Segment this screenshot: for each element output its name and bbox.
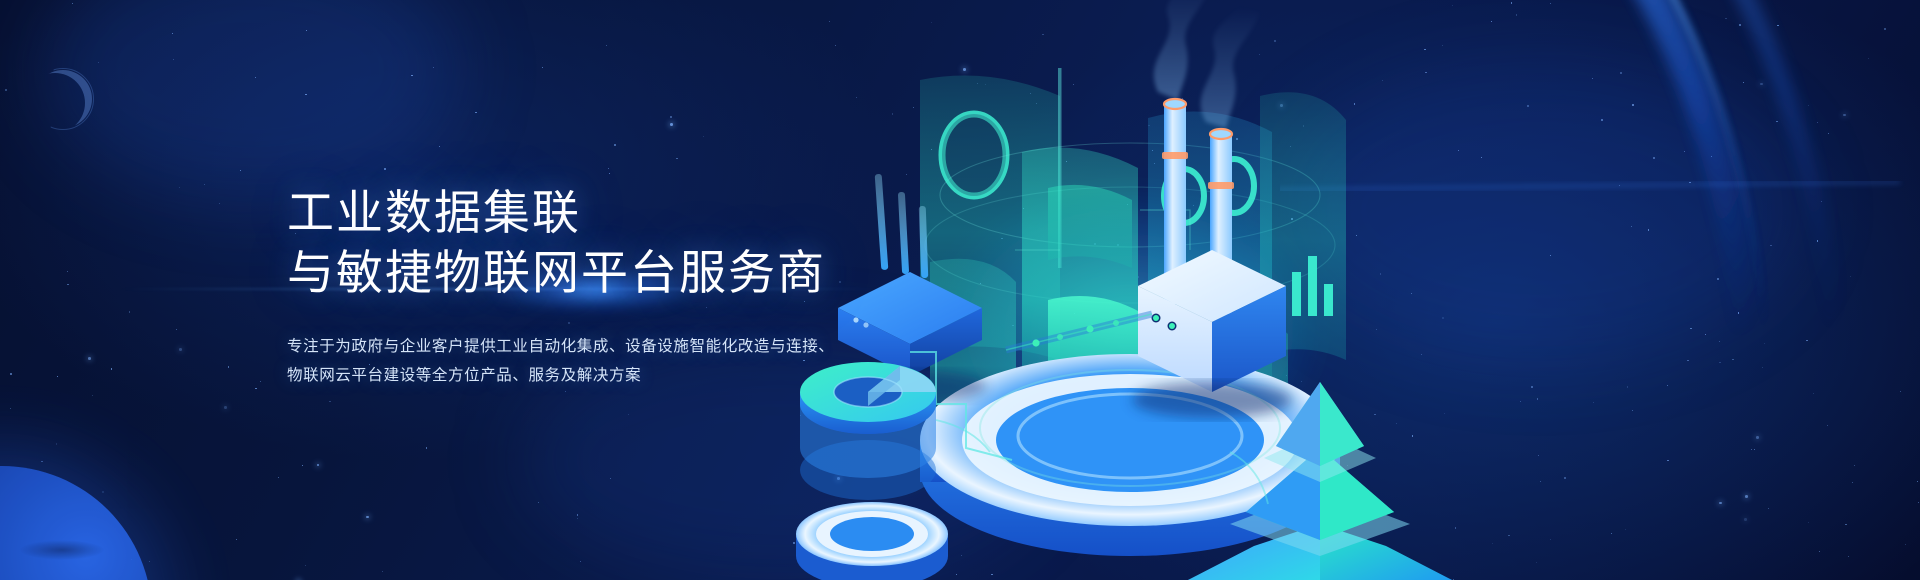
star (433, 67, 434, 68)
star (240, 170, 241, 171)
star (5, 89, 7, 91)
star (179, 348, 182, 351)
star (577, 514, 578, 515)
star (670, 123, 673, 126)
star (542, 67, 543, 68)
star (426, 447, 428, 449)
star (173, 59, 174, 60)
star (278, 477, 279, 478)
star (10, 373, 12, 375)
headline-line-1: 工业数据集联 (287, 183, 847, 242)
star (439, 146, 440, 147)
star (98, 62, 99, 63)
isometric-industrial-iot-scene (760, 0, 1920, 580)
star (102, 491, 104, 493)
star (306, 30, 307, 31)
star (411, 75, 412, 76)
hero-subtitle: 专注于为政府与企业客户提供工业自动化集成、设备设施智能化改造与连接、 物联网云平… (287, 333, 847, 390)
smoke-plume-1 (1154, 0, 1212, 100)
star (228, 366, 229, 367)
star (606, 45, 607, 46)
star (67, 284, 68, 285)
star (172, 33, 173, 34)
star (179, 187, 180, 188)
star (92, 395, 93, 396)
star (255, 388, 257, 390)
star (628, 414, 629, 415)
star (703, 136, 704, 137)
star (129, 311, 130, 312)
hero-copy-block: 工业数据集联 与敏捷物联网平台服务商 专注于为政府与企业客户提供工业自动化集成、… (287, 152, 847, 406)
star (670, 116, 672, 118)
headline-line-2: 与敏捷物联网平台服务商 (287, 243, 847, 302)
star (610, 478, 611, 479)
star (224, 406, 227, 409)
star (366, 516, 369, 519)
blue-planet-decor (0, 466, 152, 580)
star (219, 203, 220, 204)
star (580, 561, 581, 562)
star (10, 408, 12, 410)
star (614, 144, 616, 146)
router-antenna-1 (875, 174, 889, 270)
star (577, 518, 578, 519)
subtitle-line-1: 专注于为政府与企业客户提供工业自动化集成、设备设施智能化改造与连接、 (287, 333, 847, 362)
hero-banner: 工业数据集联 与敏捷物联网平台服务商 专注于为政府与企业客户提供工业自动化集成、… (0, 0, 1920, 580)
star (255, 77, 256, 78)
star (305, 94, 306, 95)
star (111, 368, 112, 369)
star (260, 381, 261, 382)
star (317, 464, 320, 467)
star (41, 461, 43, 463)
subtitle-line-2: 物联网云平台建设等全方位产品、服务及解决方案 (287, 362, 847, 391)
page-title: 工业数据集联 与敏捷物联网平台服务商 (287, 183, 847, 301)
crescent-moon-icon (34, 70, 92, 128)
star (236, 539, 237, 540)
smoke-plume-2 (1201, 6, 1260, 128)
star (538, 502, 539, 503)
star (57, 376, 58, 377)
star (475, 112, 476, 113)
star (72, 3, 73, 4)
star (67, 271, 68, 272)
star (88, 357, 91, 360)
star (305, 565, 306, 566)
star (204, 184, 205, 185)
star (149, 561, 150, 562)
ring-platform (796, 502, 948, 580)
star (302, 465, 303, 466)
router-antenna-2 (898, 192, 909, 274)
star (56, 443, 58, 445)
star (382, 571, 383, 572)
star (176, 329, 177, 330)
